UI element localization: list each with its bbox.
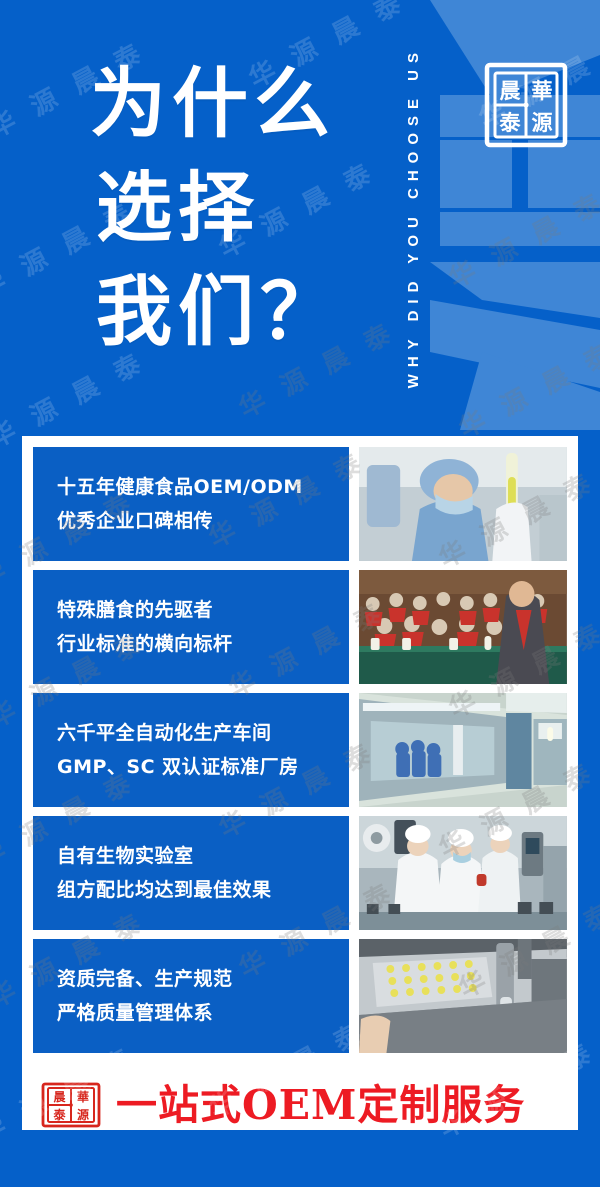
- watermark: 华 源 晨 泰: [451, 332, 600, 446]
- footer-slogan-text: 一站式OEM定制服务: [116, 1083, 525, 1127]
- svg-text:華: 華: [77, 1089, 89, 1104]
- list-item[interactable]: 自有生物实验室 组方配比均达到最佳效果: [33, 816, 567, 930]
- feature-line-1: 自有生物实验室: [57, 839, 349, 873]
- feature-text-block: 特殊膳食的先驱者 行业标准的横向标杆: [33, 570, 349, 684]
- list-item[interactable]: 六千平全自动化生产车间 GMP、SC 双认证标准厂房: [33, 693, 567, 807]
- hero-line-3: 我们？: [96, 260, 342, 364]
- svg-text:晨: 晨: [53, 1090, 66, 1104]
- vertical-english-text: WHY DID YOU CHOOSE US: [405, 46, 422, 388]
- footer-slogan-banner: 晨 華 泰 源 一站式OEM定制服务: [22, 1079, 578, 1130]
- feature-line-1: 特殊膳食的先驱者: [57, 593, 349, 627]
- feature-line-1: 六千平全自动化生产车间: [57, 716, 349, 750]
- feature-line-1: 十五年健康食品OEM/ODM: [57, 470, 349, 504]
- feature-line-2: 优秀企业口碑相传: [57, 504, 349, 538]
- vertical-english-caption: WHY DID YOU CHOOSE US: [396, 22, 430, 388]
- feature-line-1: 资质完备、生产规范: [57, 962, 349, 996]
- svg-text:源: 源: [77, 1107, 89, 1122]
- watermark: 华 源 晨 泰: [441, 182, 600, 296]
- list-item[interactable]: 特殊膳食的先驱者 行业标准的横向标杆: [33, 570, 567, 684]
- feature-line-2: 组方配比均达到最佳效果: [57, 873, 349, 907]
- company-seal-icon: 晨 華 泰 源: [481, 58, 571, 152]
- features-panel: 十五年健康食品OEM/ODM 优秀企业口碑相传: [22, 436, 578, 1130]
- list-item[interactable]: 资质完备、生产规范 严格质量管理体系: [33, 939, 567, 1053]
- page-title: 为什么 选择 我们？: [90, 52, 342, 364]
- company-seal-red-icon: 晨 華 泰 源: [40, 1082, 102, 1128]
- feature-line-2: GMP、SC 双认证标准厂房: [57, 750, 349, 784]
- svg-text:泰: 泰: [499, 111, 522, 135]
- hero-line-2: 选择: [96, 156, 342, 260]
- lab-technician-inspecting-vial-photo: [359, 447, 567, 561]
- poster-root: 为什么 选择 我们？ WHY DID YOU CHOOSE US 晨 華 泰 源: [0, 0, 600, 1187]
- feature-text-block: 六千平全自动化生产车间 GMP、SC 双认证标准厂房: [33, 693, 349, 807]
- conference-audience-hall-photo: [359, 570, 567, 684]
- cleanroom-production-corridor-photo: [359, 693, 567, 807]
- svg-text:晨: 晨: [500, 79, 522, 103]
- feature-line-2: 行业标准的横向标杆: [57, 627, 349, 661]
- feature-text-block: 资质完备、生产规范 严格质量管理体系: [33, 939, 349, 1053]
- svg-text:源: 源: [532, 111, 553, 135]
- staff-at-packaging-line-photo: [359, 816, 567, 930]
- feature-line-2: 严格质量管理体系: [57, 996, 349, 1030]
- feature-text-block: 十五年健康食品OEM/ODM 优秀企业口碑相传: [33, 447, 349, 561]
- svg-text:華: 華: [532, 79, 553, 103]
- features-list: 十五年健康食品OEM/ODM 优秀企业口碑相传: [33, 447, 567, 1062]
- tablet-blister-packing-machine-photo: [359, 939, 567, 1053]
- list-item[interactable]: 十五年健康食品OEM/ODM 优秀企业口碑相传: [33, 447, 567, 561]
- hero-line-1: 为什么: [90, 52, 342, 156]
- svg-text:泰: 泰: [52, 1107, 66, 1122]
- feature-text-block: 自有生物实验室 组方配比均达到最佳效果: [33, 816, 349, 930]
